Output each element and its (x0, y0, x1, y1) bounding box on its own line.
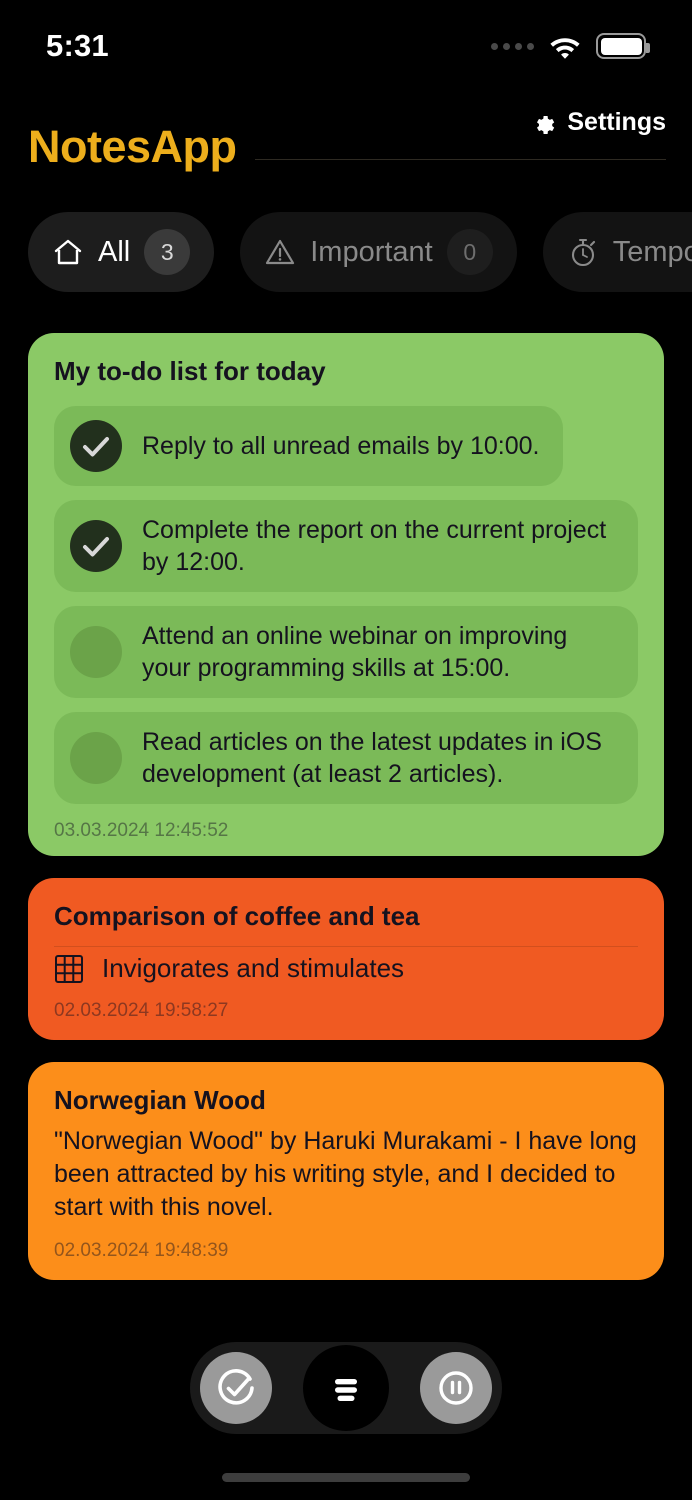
checklist-item-text: Read articles on the latest updates in i… (142, 726, 614, 790)
list-lines-icon (324, 1366, 368, 1410)
status-indicators (491, 27, 646, 59)
note-timestamp: 02.03.2024 19:48:39 (54, 1240, 638, 1262)
tab-all[interactable]: All 3 (28, 212, 214, 292)
tab-important-badge: 0 (447, 229, 493, 275)
check-circle-icon (214, 1366, 258, 1410)
note-title: My to-do list for today (54, 355, 638, 388)
app-header: Settings NotesApp (0, 100, 692, 190)
pause-circle-icon (434, 1366, 478, 1410)
checklist-item-text: Attend an online webinar on improving yo… (142, 620, 614, 684)
checkbox-checked-icon[interactable] (70, 420, 122, 472)
note-card-table[interactable]: Comparison of coffee and tea Invigorates… (28, 878, 664, 1041)
note-card-text[interactable]: Norwegian Wood "Norwegian Wood" by Haruk… (28, 1062, 664, 1280)
tab-all-label: All (98, 236, 130, 269)
note-card-checklist[interactable]: My to-do list for today Reply to all unr… (28, 333, 664, 856)
nav-button-notes[interactable] (303, 1345, 389, 1431)
nav-button-tasks[interactable] (200, 1352, 272, 1424)
wifi-icon (548, 34, 582, 59)
stopwatch-icon (567, 236, 599, 268)
checklist-item[interactable]: Reply to all unread emails by 10:00. (54, 406, 563, 486)
note-timestamp: 03.03.2024 12:45:52 (54, 820, 638, 842)
checkbox-checked-icon[interactable] (70, 520, 122, 572)
status-bar: 5:31 (0, 0, 692, 86)
warning-triangle-icon (264, 236, 296, 268)
header-divider (255, 159, 667, 160)
note-body: "Norwegian Wood" by Haruki Murakami - I … (54, 1125, 638, 1224)
note-table-row: Invigorates and stimulates (54, 953, 638, 984)
checklist-item-text: Complete the report on the current proje… (142, 514, 614, 578)
notes-list: My to-do list for today Reply to all unr… (0, 333, 692, 1280)
checklist-item[interactable]: Attend an online webinar on improving yo… (54, 606, 638, 698)
status-time: 5:31 (46, 22, 109, 64)
cellular-dots-icon (491, 43, 534, 50)
tab-temporary-label: Tempor (613, 236, 692, 269)
brand-row: NotesApp (28, 124, 666, 169)
tab-all-badge: 3 (144, 229, 190, 275)
checklist-item[interactable]: Read articles on the latest updates in i… (54, 712, 638, 804)
bottom-navigation[interactable] (190, 1342, 502, 1434)
checklist: Reply to all unread emails by 10:00. Com… (54, 406, 638, 804)
checklist-item-text: Reply to all unread emails by 10:00. (142, 430, 539, 462)
note-table-row-text: Invigorates and stimulates (102, 953, 404, 984)
note-divider (54, 946, 638, 947)
home-indicator (222, 1473, 470, 1482)
note-timestamp: 02.03.2024 19:58:27 (54, 1000, 638, 1022)
app-title: NotesApp (28, 124, 237, 169)
battery-full-icon (596, 33, 646, 59)
home-icon (52, 236, 84, 268)
tab-important-label: Important (310, 236, 433, 269)
checkbox-unchecked-icon[interactable] (70, 626, 122, 678)
note-title: Comparison of coffee and tea (54, 900, 638, 933)
app-screen: 5:31 Settings NotesApp (0, 0, 692, 1500)
checklist-item[interactable]: Complete the report on the current proje… (54, 500, 638, 592)
tab-important[interactable]: Important 0 (240, 212, 517, 292)
nav-button-temporary[interactable] (420, 1352, 492, 1424)
checkbox-unchecked-icon[interactable] (70, 732, 122, 784)
tab-temporary[interactable]: Tempor (543, 212, 692, 292)
filter-tabs[interactable]: All 3 Important 0 (0, 211, 692, 293)
note-title: Norwegian Wood (54, 1084, 638, 1117)
table-grid-icon (54, 954, 84, 984)
